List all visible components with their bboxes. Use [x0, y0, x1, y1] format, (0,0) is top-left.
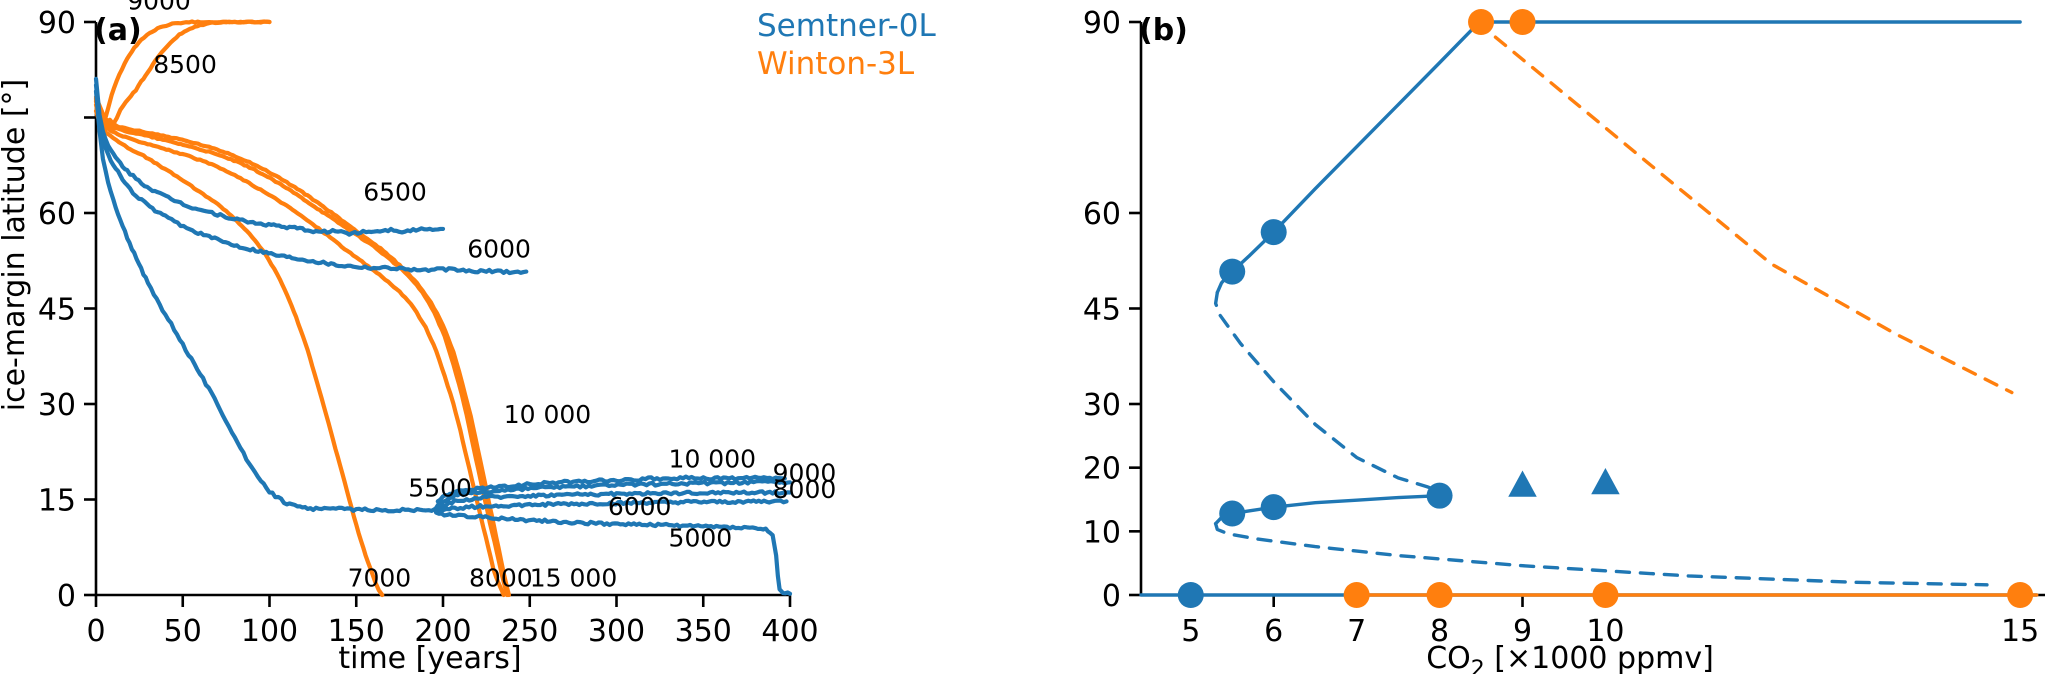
panel-a-curve-label: 5500 [408, 473, 472, 502]
panel-b-marker-circle [1427, 483, 1453, 509]
panel-b-x-tick-label: 5 [1181, 614, 1200, 649]
panel-b-y-tick-label: 10 [1083, 515, 1121, 550]
panel-a-curve-label: 6000 [608, 492, 672, 521]
figure-svg: 01530456090050100150200250300350400 9000… [0, 0, 2067, 674]
panel-a-curve-label: 6500 [363, 177, 427, 206]
panel-a-x-tick-label: 300 [588, 614, 645, 649]
panel-b-x-tick-label: 6 [1264, 614, 1283, 649]
panel-a-y-tick-label: 60 [38, 197, 76, 232]
panel-a-curve-label: 15 000 [530, 564, 617, 593]
panel-a-y-tick-label: 0 [57, 579, 76, 614]
panel-b-marker-circle [1219, 501, 1245, 527]
panel-b-y-tick-label: 90 [1083, 6, 1121, 41]
panel-b-x-tick-label: 15 [2001, 614, 2039, 649]
panel-a-y-tick-label: 15 [38, 484, 76, 519]
panel-a-x-tick-label: 400 [761, 614, 818, 649]
panel-b-marker-circle [2007, 582, 2033, 608]
panel-b-y-tick-label: 0 [1102, 579, 1121, 614]
panel-a-curve-label: 8000 [469, 564, 533, 593]
panel-b-y-tick-label: 60 [1083, 197, 1121, 232]
panel-b-y-tick-label: 45 [1083, 293, 1121, 328]
panel-b-label: (b) [1139, 13, 1188, 48]
figure-background [0, 0, 2067, 674]
panel-a-label: (a) [94, 13, 142, 48]
panel-b-marker-circle [1510, 9, 1536, 35]
panel-a-curve-label: 5000 [669, 524, 733, 553]
panel-a-x-tick-label: 100 [241, 614, 298, 649]
panel-a-y-tick-label: 90 [38, 6, 76, 41]
panel-b-marker-circle [1427, 582, 1453, 608]
legend-entry-semtner-0l: Semtner-0L [757, 8, 936, 44]
panel-a-curve-label: 10 000 [669, 445, 756, 474]
panel-b-marker-circle [1178, 582, 1204, 608]
panel-a-curve-label: 6000 [467, 235, 531, 264]
panel-a-y-tick-label: 45 [38, 293, 76, 328]
panel-b-y-tick-label: 20 [1083, 452, 1121, 487]
panel-a-curve-label: 10 000 [504, 400, 591, 429]
panel-a-curve-label: 7000 [348, 564, 412, 593]
panel-b-x-axis-title: CO2 [×1000 ppmv] [1426, 641, 1714, 674]
panel-a-y-tick-label: 30 [38, 388, 76, 423]
panel-a-x-tick-label: 350 [675, 614, 732, 649]
panel-a-curve-label: 8000 [773, 475, 837, 504]
panel-a-curve-label: 8500 [153, 50, 217, 79]
panel-b-marker-circle [1219, 259, 1245, 285]
panel-b-marker-circle [1344, 582, 1370, 608]
panel-b-x-tick-label: 7 [1347, 614, 1366, 649]
panel-b-marker-circle [1592, 582, 1618, 608]
panel-b-y-tick-label: 30 [1083, 388, 1121, 423]
panel-a-x-axis-title: time [years] [338, 641, 521, 674]
panel-a-x-tick-label: 0 [86, 614, 105, 649]
panel-b-marker-circle [1261, 219, 1287, 245]
panel-a-x-tick-label: 50 [164, 614, 202, 649]
figure-root: 01530456090050100150200250300350400 9000… [0, 0, 2067, 674]
legend-entry-winton-3l: Winton-3L [757, 46, 915, 82]
panel-a-y-axis-title: ice-margin latitude [°] [0, 79, 32, 412]
panel-b-marker-circle [1261, 494, 1287, 520]
panel-b-marker-circle [1468, 9, 1494, 35]
